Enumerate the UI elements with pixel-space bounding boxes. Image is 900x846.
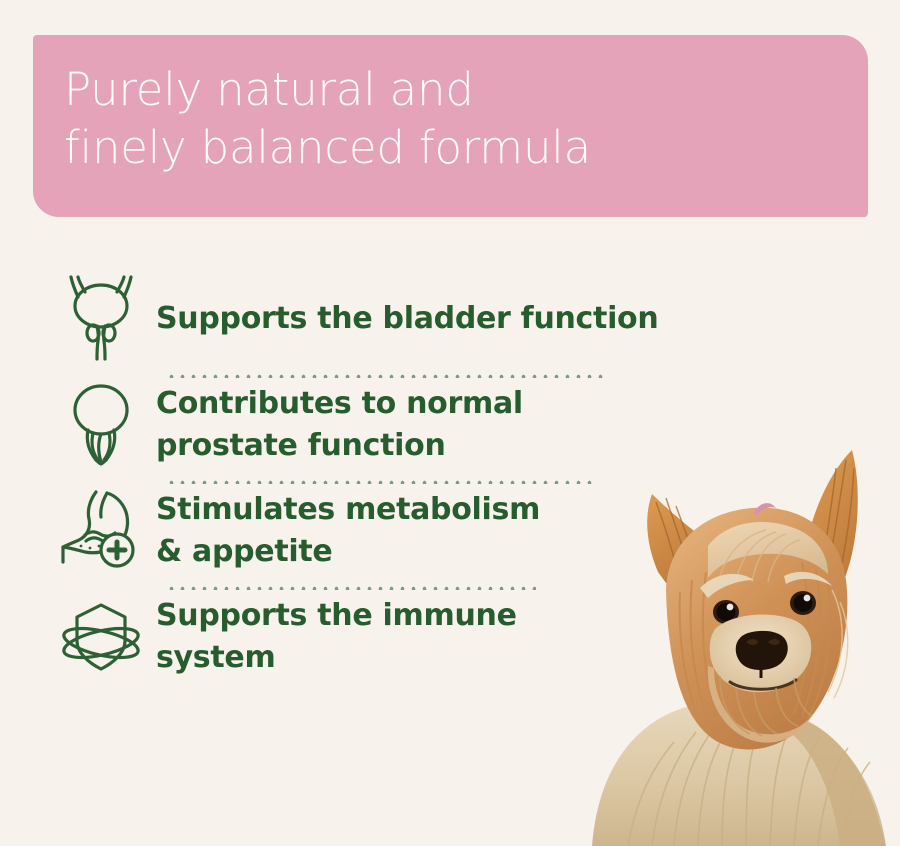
benefit-label: Stimulates metabolism & appetite	[156, 487, 666, 573]
benefit-item: Supports the immune system	[46, 590, 666, 682]
stomach-plus-icon	[46, 484, 156, 576]
prostate-icon	[46, 378, 156, 470]
benefit-item: Stimulates metabolism & appetite	[46, 484, 666, 576]
benefit-label: Contributes to normal prostate function	[156, 381, 666, 467]
bladder-icon	[46, 272, 156, 364]
benefit-item: Supports the bladder function	[46, 272, 666, 364]
benefit-divider	[166, 576, 536, 590]
promo-panel: Purely natural and finely balanced formu…	[0, 0, 900, 846]
banner-title: Purely natural and finely balanced formu…	[64, 61, 868, 177]
immune-shield-icon	[46, 590, 156, 682]
benefits-list: Supports the bladder function Contribute…	[46, 272, 666, 682]
benefit-divider	[166, 470, 596, 484]
benefit-item: Contributes to normal prostate function	[46, 378, 666, 470]
header-banner: Purely natural and finely balanced formu…	[33, 35, 868, 217]
benefit-label: Supports the bladder function	[156, 296, 666, 340]
benefit-label: Supports the immune system	[156, 593, 666, 679]
benefit-divider	[166, 364, 606, 378]
